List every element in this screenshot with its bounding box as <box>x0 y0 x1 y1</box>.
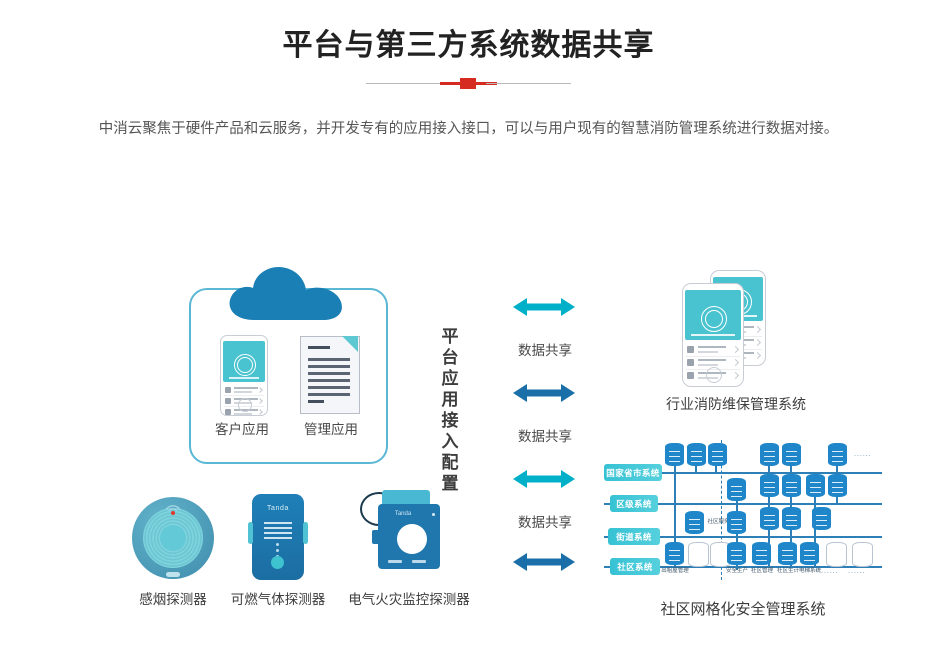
divider-red-square <box>460 78 476 89</box>
tier-label-community: 社区系统 <box>610 558 660 575</box>
data-share-arrow-1 <box>513 296 575 318</box>
db-node <box>828 474 847 497</box>
phone-home-button <box>706 367 722 383</box>
ellipsis-1: ...... <box>854 451 872 458</box>
data-share-label-1: 数据共享 <box>495 339 595 359</box>
gas-indicator-light <box>271 556 284 569</box>
cloud-platform-icon <box>224 262 350 324</box>
node-label-rental: 出租屋管理 <box>655 566 695 574</box>
divider-line-left <box>366 83 451 84</box>
phone-home-button <box>238 398 252 412</box>
db-node-empty <box>852 542 871 565</box>
community-grid-label: 社区网格化安全管理系统 <box>618 598 868 619</box>
db-node <box>782 507 801 530</box>
cloud-shape <box>224 262 350 324</box>
cloud-platform-label: 物联网云平台 <box>0 20 126 82</box>
db-node <box>812 507 831 530</box>
monitor-brand-label: Tanda <box>378 511 428 517</box>
db-node <box>687 443 706 466</box>
data-share-arrow-4 <box>513 551 575 573</box>
phone-caption-bar <box>229 377 259 379</box>
db-node <box>778 542 797 565</box>
data-share-arrow-3 <box>513 468 575 490</box>
db-node <box>752 542 771 565</box>
db-node <box>665 443 684 466</box>
db-node-empty <box>826 542 845 565</box>
smoke-detector-icon <box>132 497 214 579</box>
customer-app-label: 客户应用 <box>196 418 288 438</box>
db-node <box>782 443 801 466</box>
db-node <box>760 443 779 466</box>
electrical-fire-monitor-icon: Tanda <box>358 490 446 582</box>
db-node <box>708 443 727 466</box>
platform-access-config-label: 平台应用接入配置 <box>437 326 463 494</box>
db-node <box>727 478 746 501</box>
monitor-notch <box>372 530 381 544</box>
gas-detector-icon: Tanda <box>252 494 304 580</box>
page-subtitle: 中消云聚焦于硬件产品和云服务，并开发专有的应用接入接口，可以与用户现有的智慧消防… <box>0 117 937 138</box>
ellipsis-2: ...... <box>821 568 839 575</box>
db-node <box>665 542 684 565</box>
maintenance-system-icon <box>676 270 796 385</box>
db-node <box>760 474 779 497</box>
monitor-aperture <box>397 524 427 554</box>
wifi-icon <box>164 499 182 508</box>
phone-ring-inner <box>237 357 253 373</box>
db-node <box>782 474 801 497</box>
tier-label-street: 街道系统 <box>608 528 660 545</box>
smoke-detector-label: 感烟探测器 <box>118 588 228 608</box>
db-node <box>685 511 704 534</box>
data-share-arrow-2 <box>513 382 575 404</box>
electrical-monitor-label: 电气火灾监控探测器 <box>334 588 484 608</box>
monitor-led <box>432 513 435 516</box>
data-share-label-3: 数据共享 <box>495 511 595 531</box>
management-app-label: 管理应用 <box>285 418 377 438</box>
data-share-label-2: 数据共享 <box>495 425 595 445</box>
db-node <box>760 507 779 530</box>
tier-label-district: 区级系统 <box>610 495 658 512</box>
gas-detector-label: 可燃气体探测器 <box>214 588 342 608</box>
phone-list-row <box>224 385 264 396</box>
smoke-core <box>160 525 186 551</box>
gas-brand-label: Tanda <box>252 505 304 512</box>
phone-screen <box>685 290 741 340</box>
phone-screen <box>223 341 265 382</box>
document-body <box>300 336 360 414</box>
maintenance-system-label: 行业消防维保管理系统 <box>636 394 836 414</box>
community-grid-diagram: 国家省市系统 区级系统 街道系统 社区系统 ...... 社区服务热线 <box>600 432 882 582</box>
title-divider <box>366 77 571 91</box>
db-node <box>727 511 746 534</box>
gas-side-right <box>303 522 308 544</box>
customer-app-phone-icon <box>220 335 268 416</box>
tier-label-national: 国家省市系统 <box>604 464 662 481</box>
ellipsis-3: ...... <box>848 568 866 575</box>
db-node <box>800 542 819 565</box>
smoke-tab <box>166 572 180 577</box>
db-node-empty <box>688 542 707 565</box>
page-title: 平台与第三方系统数据共享 <box>0 20 937 64</box>
db-node <box>806 474 825 497</box>
divider-line-right <box>486 83 571 84</box>
phone-front <box>682 283 744 387</box>
management-app-document-icon <box>300 336 358 412</box>
db-node <box>828 443 847 466</box>
gas-side-left <box>248 522 253 544</box>
db-node <box>727 542 746 565</box>
